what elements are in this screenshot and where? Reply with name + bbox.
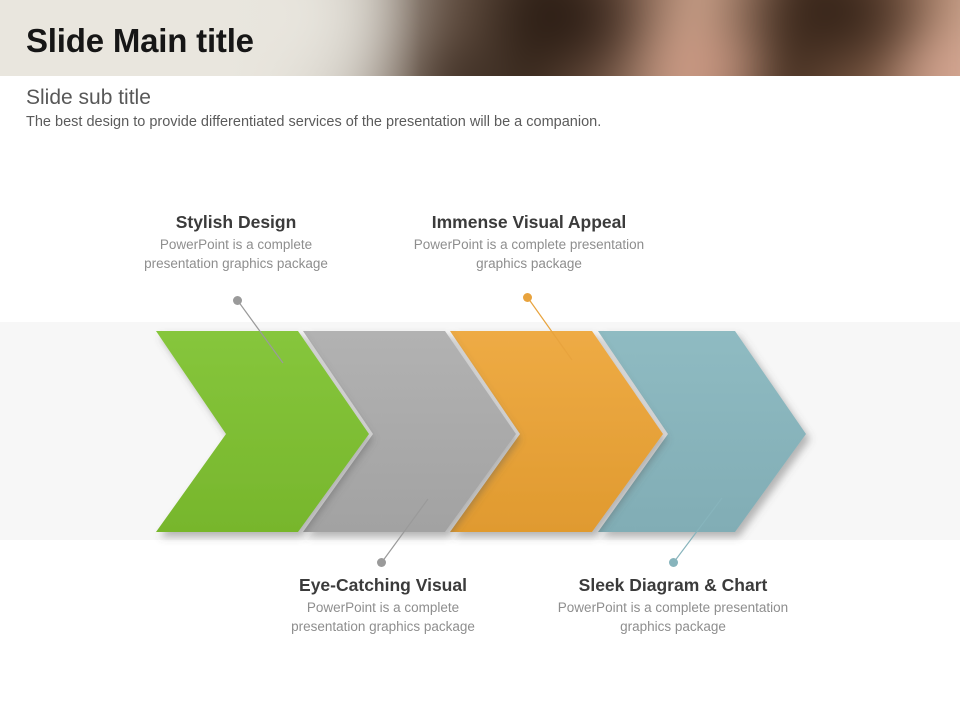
connector-dot-immense-visual-appeal [523, 293, 532, 302]
connector-dot-eye-catching-visual [377, 558, 386, 567]
sub-description: The best design to provide differentiate… [26, 114, 601, 130]
callout-eye-catching-visual: Eye-Catching Visual PowerPoint is a comp… [272, 575, 494, 636]
slide-canvas: Slide Main title Slide sub title The bes… [0, 0, 960, 720]
callout-body: PowerPoint is a complete presentation gr… [398, 235, 660, 273]
callout-immense-visual-appeal: Immense Visual Appeal PowerPoint is a co… [398, 212, 660, 273]
callout-title: Immense Visual Appeal [398, 212, 660, 234]
connector-dot-stylish-design [233, 296, 242, 305]
callout-title: Sleek Diagram & Chart [548, 575, 798, 597]
chevron-band-background [0, 322, 960, 540]
page-title: Slide Main title [26, 22, 254, 60]
sub-title: Slide sub title [26, 86, 151, 110]
callout-body: PowerPoint is a complete presentation gr… [126, 235, 346, 273]
callout-body: PowerPoint is a complete presentation gr… [272, 598, 494, 636]
connector-dot-sleek-diagram-chart [669, 558, 678, 567]
callout-title: Eye-Catching Visual [272, 575, 494, 597]
callout-body: PowerPoint is a complete presentation gr… [548, 598, 798, 636]
callout-title: Stylish Design [126, 212, 346, 234]
callout-stylish-design: Stylish Design PowerPoint is a complete … [126, 212, 346, 273]
callout-sleek-diagram-chart: Sleek Diagram & Chart PowerPoint is a co… [548, 575, 798, 636]
